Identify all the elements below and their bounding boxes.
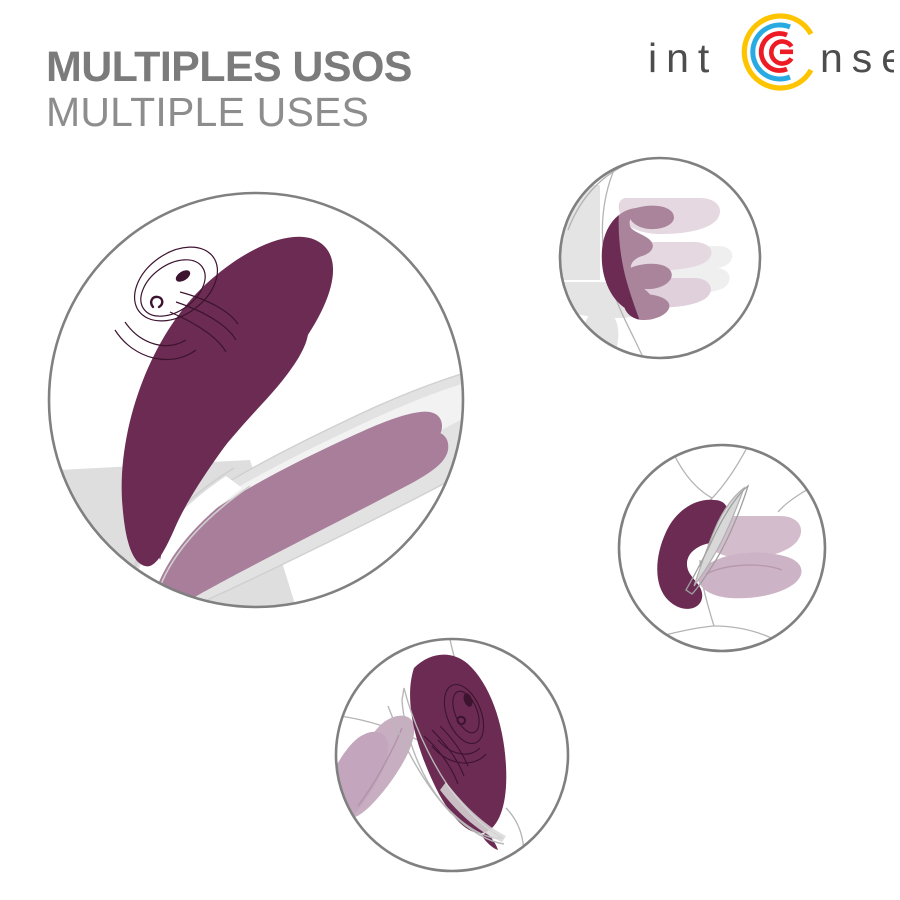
illustration-top-right-circle bbox=[555, 150, 790, 472]
power-button-slot bbox=[174, 268, 192, 284]
illustration-bottom-circle bbox=[316, 630, 586, 898]
illustration-stage bbox=[0, 0, 900, 900]
function-button-glyph bbox=[151, 297, 162, 307]
illustration-mid-right-circle bbox=[619, 438, 828, 651]
illustration-main-usage-circle bbox=[49, 193, 566, 620]
hand-lower-finger bbox=[581, 310, 619, 370]
skin-overlay-tr bbox=[619, 150, 760, 396]
mauve-lower-mr bbox=[698, 553, 802, 599]
poster-canvas: MULTIPLES USOS MULTIPLE USES int bbox=[0, 0, 900, 900]
